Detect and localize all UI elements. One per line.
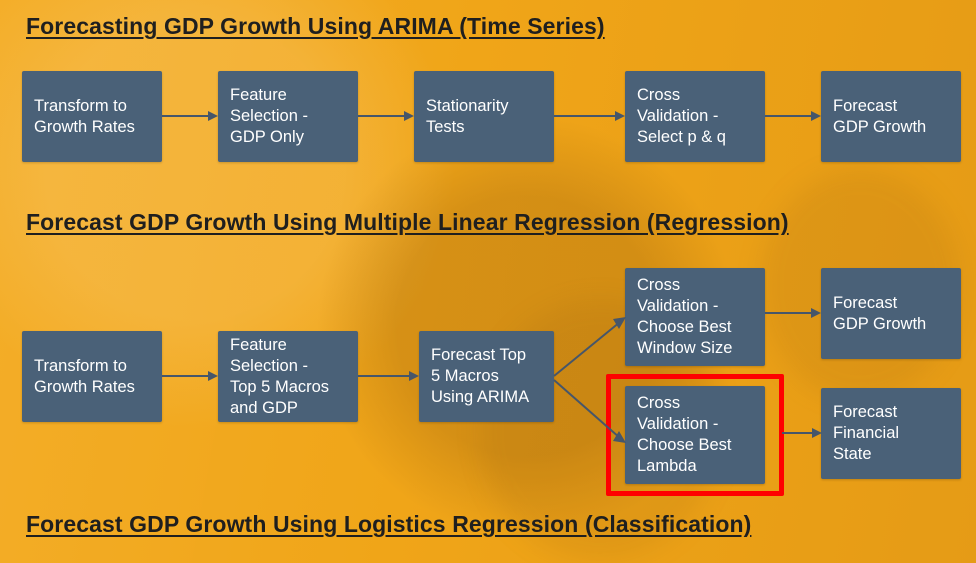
arrow-reg-3-lambda [552, 376, 632, 466]
node-transform-to-growth-rates-regression[interactable]: Transform to Growth Rates [22, 331, 162, 422]
section-heading-logistic: Forecast GDP Growth Using Logistics Regr… [26, 511, 751, 538]
section-heading-arima: Forecasting GDP Growth Using ARIMA (Time… [26, 13, 605, 40]
node-forecast-top-5-macros-using-arima[interactable]: Forecast Top 5 Macros Using ARIMA [419, 331, 554, 422]
node-transform-to-growth-rates-arima[interactable]: Transform to Growth Rates [22, 71, 162, 162]
node-feature-selection-top-5-macros-and-gdp[interactable]: Feature Selection - Top 5 Macros and GDP [218, 331, 358, 422]
arrow-arima-4-5 [763, 100, 825, 130]
arrow-arima-2-3 [356, 100, 418, 130]
node-cross-validation-select-p-q[interactable]: Cross Validation - Select p & q [625, 71, 765, 162]
node-cross-validation-choose-best-window-size[interactable]: Cross Validation - Choose Best Window Si… [625, 268, 765, 366]
arrow-reg-1-2 [160, 360, 222, 390]
arrow-reg-2-3 [356, 360, 423, 390]
node-feature-selection-gdp-only[interactable]: Feature Selection - GDP Only [218, 71, 358, 162]
arrow-reg-lambda-financial-state [780, 417, 826, 447]
node-cross-validation-choose-best-lambda[interactable]: Cross Validation - Choose Best Lambda [625, 386, 765, 484]
node-forecast-financial-state[interactable]: Forecast Financial State [821, 388, 961, 479]
node-forecast-gdp-growth-arima[interactable]: Forecast GDP Growth [821, 71, 961, 162]
slide-canvas: Forecasting GDP Growth Using ARIMA (Time… [0, 0, 976, 563]
arrow-arima-3-4 [552, 100, 629, 130]
arrow-reg-3-window-size [552, 300, 632, 390]
section-heading-regression: Forecast GDP Growth Using Multiple Linea… [26, 209, 789, 236]
node-forecast-gdp-growth-regression[interactable]: Forecast GDP Growth [821, 268, 961, 359]
arrow-arima-1-2 [160, 100, 222, 130]
node-stationarity-tests[interactable]: Stationarity Tests [414, 71, 554, 162]
arrow-reg-window-size-forecast [763, 297, 825, 327]
